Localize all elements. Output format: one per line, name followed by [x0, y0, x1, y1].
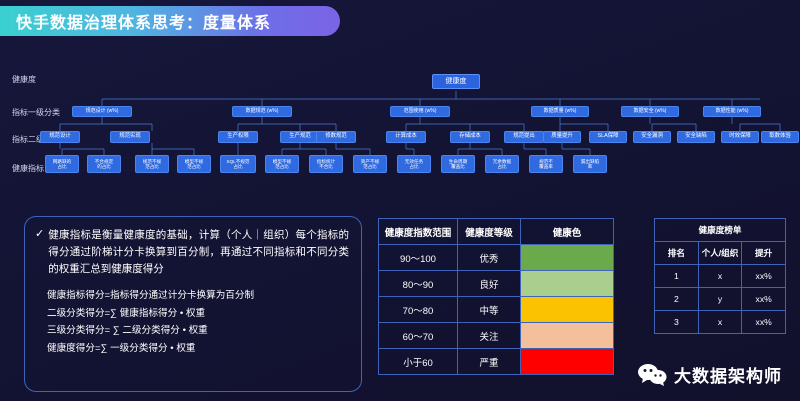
formula-line: 健康指标得分=指标得分通过计分卡换算为百分制 [47, 287, 349, 305]
tree-node-lvl2[interactable]: 安全漏洞 [633, 131, 671, 143]
formula-line: 三级分类得分= ∑ 二级分类得分 • 权重 [47, 322, 349, 340]
cell-owner: x [698, 265, 742, 288]
leaf-label-line2: 不合比 [317, 164, 335, 169]
tree-node-leaf[interactable]: 模型不规范占比 [265, 155, 299, 173]
tree-node-leaf[interactable]: 指标统计不合比 [309, 155, 343, 173]
column-header-owner: 个人/组织 [698, 242, 742, 265]
tree-node-leaf[interactable]: 规范不覆盖率 [529, 155, 563, 173]
formula-line: 二级分类得分=∑ 健康指标得分 • 权重 [47, 305, 349, 323]
table-row: 小于60严重 [379, 349, 614, 375]
health-grade-table: 健康度指数范围 健康度等级 健康色 90～100优秀80～90良好70～80中等… [378, 218, 614, 375]
leaf-label-line2: 占比 [53, 164, 71, 169]
rank-header-row: 排名 个人/组织 提升 [655, 242, 786, 265]
cell-level: 中等 [458, 297, 521, 323]
column-header-color: 健康色 [521, 219, 614, 245]
table-row: 3xxx% [655, 311, 786, 334]
tree-node-root[interactable]: 健康度 [432, 74, 480, 89]
tree-node-lvl1[interactable]: 规范设计 (w%) [72, 106, 132, 117]
tree-node-leaf[interactable]: 漏出缺陷率 [573, 155, 607, 173]
leaf-label-line2: 占比 [227, 164, 250, 169]
cell-color-swatch [521, 349, 614, 375]
table-header-row: 健康度指数范围 健康度等级 健康色 [379, 219, 614, 245]
cell-level: 严重 [458, 349, 521, 375]
formula-line: 健康度得分=∑ 一级分类得分 • 权重 [47, 340, 349, 358]
row-label-health: 健康度 [12, 74, 36, 85]
leaf-label-line2: 占比 [405, 164, 423, 169]
cell-color-swatch [521, 323, 614, 349]
table-row: 2yxx% [655, 288, 786, 311]
cell-range: 90～100 [379, 245, 458, 271]
leaf-label-line2: 范占比 [273, 164, 291, 169]
tree-node-lvl2[interactable]: SLA保障 [589, 131, 627, 143]
tree-node-leaf[interactable]: 不合规定的占比 [87, 155, 121, 173]
cell-color-swatch [521, 297, 614, 323]
table-row: 90～100优秀 [379, 245, 614, 271]
leaf-label-line2: 范占比 [361, 164, 379, 169]
cell-improve: xx% [742, 288, 786, 311]
tree-node-leaf[interactable]: 规范不规范占比 [135, 155, 169, 173]
column-header-rank: 排名 [655, 242, 699, 265]
page-title: 快手数据治理体系思考：度量体系 [0, 9, 271, 33]
leaf-label-line2: 占比 [493, 164, 511, 169]
cell-range: 60～70 [379, 323, 458, 349]
tree-node-lvl2[interactable]: 时效保障 [721, 131, 759, 143]
table-row: 80～90良好 [379, 271, 614, 297]
watermark: 大数据架构师 [637, 362, 782, 387]
cell-owner: y [698, 288, 742, 311]
tree-node-lvl2[interactable]: 规范提出 [504, 131, 544, 143]
leaf-label-line2: 覆盖率 [539, 164, 553, 169]
rank-table-title: 健康度榜单 [655, 219, 786, 242]
tree-node-leaf[interactable]: 冗余数据占比 [485, 155, 519, 173]
tree-node-leaf[interactable]: 模型不规范占比 [177, 155, 211, 173]
tree-node-lvl1[interactable]: 数据规范 (w%) [232, 106, 292, 117]
leaf-label-line2: 范占比 [185, 164, 203, 169]
tree-node-lvl2[interactable]: 生产规范 [280, 131, 320, 143]
row-label-metrics: 健康指标 [12, 163, 44, 174]
tree-node-lvl2[interactable]: 生产权限 [218, 131, 258, 143]
tree-node-lvl2[interactable]: 规范设计 [40, 131, 80, 143]
tree-node-leaf[interactable]: 生命周期覆盖比 [441, 155, 475, 173]
cell-rank: 2 [655, 288, 699, 311]
tree-node-lvl2[interactable]: 存储成本 [450, 131, 490, 143]
tree-node-lvl2[interactable]: 质量提升 [543, 131, 581, 143]
cell-level: 良好 [458, 271, 521, 297]
cell-color-swatch [521, 271, 614, 297]
tree-node-lvl2[interactable]: 修数规范 [316, 131, 356, 143]
cell-level: 优秀 [458, 245, 521, 271]
cell-improve: xx% [742, 265, 786, 288]
rank-table-body: 1xxx%2yxx%3xxx% [655, 265, 786, 334]
check-icon: ✓ [35, 227, 44, 243]
column-header-level: 健康度等级 [458, 219, 521, 245]
health-table-body: 90～100优秀80～90良好70～80中等60～70关注小于60严重 [379, 245, 614, 375]
watermark-label: 大数据架构师 [674, 362, 782, 387]
formula-list: 健康指标得分=指标得分通过计分卡换算为百分制 二级分类得分=∑ 健康指标得分 •… [35, 287, 349, 358]
leaf-label-line2: 范占比 [143, 164, 161, 169]
table-row: 70～80中等 [379, 297, 614, 323]
cell-range: 80～90 [379, 271, 458, 297]
description-paragraph: 健康指标是衡量健康度的基础，计算（个人｜组织）每个指标的得分通过阶梯计分卡换算到… [48, 227, 349, 278]
row-label-level1: 指标一级分类 [12, 107, 60, 118]
column-header-range: 健康度指数范围 [379, 219, 458, 245]
leaf-label-line2: 的占比 [95, 164, 113, 169]
leaf-label-line2: 覆盖比 [449, 164, 467, 169]
tree-node-leaf[interactable]: 无效任务占比 [397, 155, 431, 173]
tree-node-lvl1[interactable]: 数据安全 (w%) [621, 106, 679, 117]
hierarchy-diagram: 健康度 指标一级分类 指标二级分类 健康指标 健康度 规范设计 (w%)数据规范… [0, 58, 800, 203]
cell-rank: 3 [655, 311, 699, 334]
column-header-improve: 提升 [742, 242, 786, 265]
cell-owner: x [698, 311, 742, 334]
slide-root: 快手数据治理体系思考：度量体系 [0, 0, 800, 401]
tree-node-lvl1[interactable]: 范围使用 (w%) [390, 106, 450, 117]
cell-improve: xx% [742, 311, 786, 334]
slide-title-banner: 快手数据治理体系思考：度量体系 [0, 6, 340, 36]
tree-node-lvl2[interactable]: 取数体验 [761, 131, 799, 143]
tree-node-leaf[interactable]: SQL不规范占比 [220, 155, 256, 173]
health-rank-table: 健康度榜单 排名 个人/组织 提升 1xxx%2yxx%3xxx% [654, 218, 786, 334]
tree-node-lvl1[interactable]: 数据质量 (w%) [531, 106, 589, 117]
cell-color-swatch [521, 245, 614, 271]
rank-title-row: 健康度榜单 [655, 219, 786, 242]
tree-node-lvl2[interactable]: 计算成本 [386, 131, 426, 143]
cell-rank: 1 [655, 265, 699, 288]
wechat-icon [637, 363, 667, 387]
table-row: 60～70关注 [379, 323, 614, 349]
tree-node-leaf[interactable]: 资产不规范占比 [353, 155, 387, 173]
tree-node-lvl2[interactable]: 安全缺陷 [677, 131, 715, 143]
leaf-label-line2: 率 [581, 164, 599, 169]
tree-node-lvl1[interactable]: 数据性能 (w%) [703, 106, 761, 117]
cell-range: 小于60 [379, 349, 458, 375]
tree-node-lvl2[interactable]: 规范实现 [110, 131, 150, 143]
table-row: 1xxx% [655, 265, 786, 288]
tree-node-leaf[interactable]: 网路缺的占比 [45, 155, 79, 173]
description-panel: ✓ 健康指标是衡量健康度的基础，计算（个人｜组织）每个指标的得分通过阶梯计分卡换… [24, 216, 362, 392]
cell-level: 关注 [458, 323, 521, 349]
cell-range: 70～80 [379, 297, 458, 323]
